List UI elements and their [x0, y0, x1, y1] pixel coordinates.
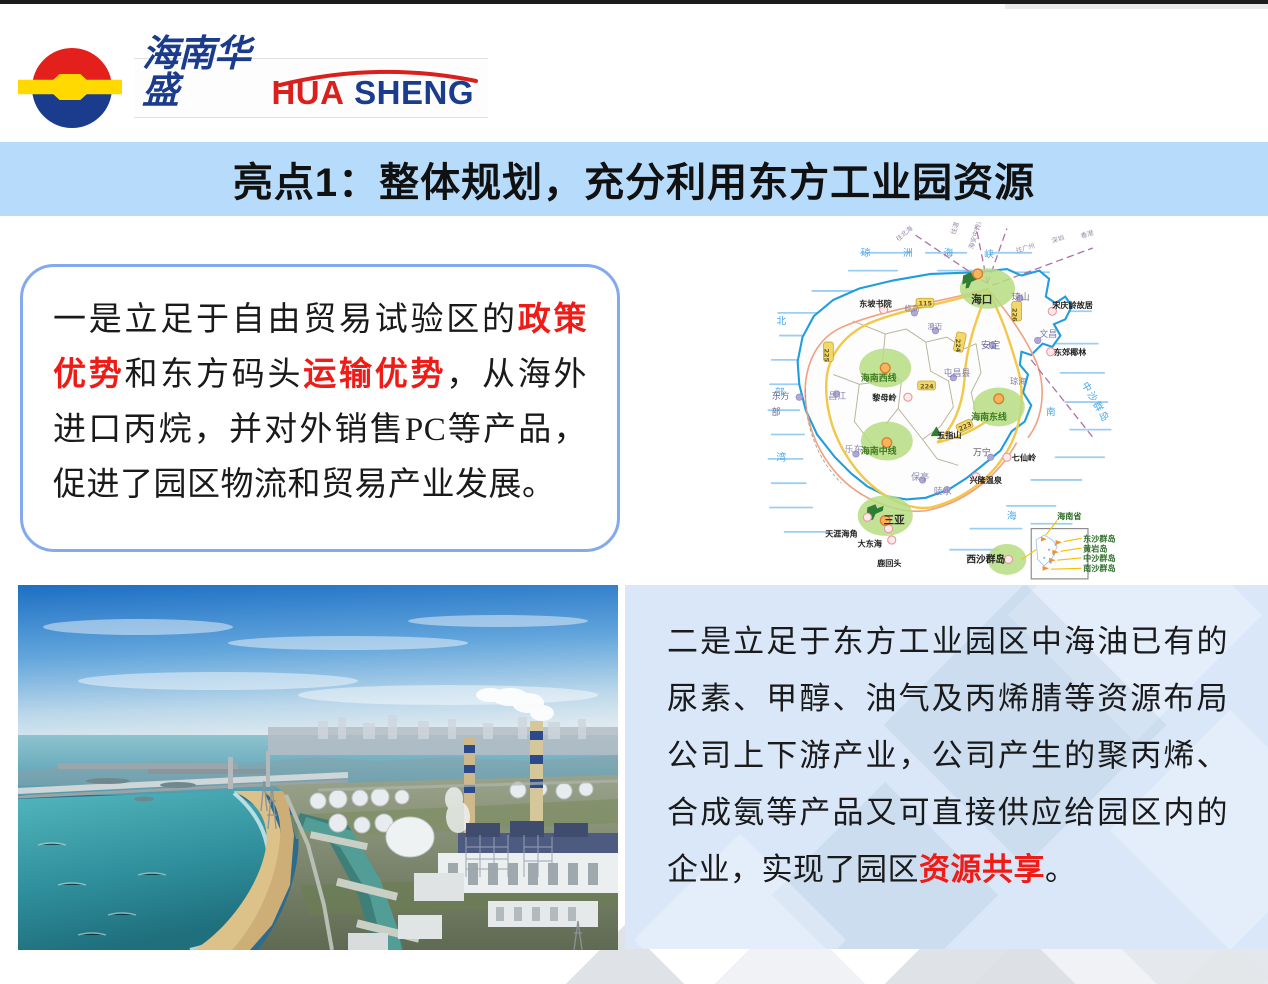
p2-seg2: 。 [1045, 852, 1077, 887]
route-label-hongkong: 香港 [1080, 228, 1095, 240]
scenic-dadonghai: 大东海 [858, 538, 882, 548]
slide-root: 海南华盛 HUA SHENG 亮点1：整体规划，充分利用东方工业园资源 一是立足… [0, 0, 1268, 984]
logo-arc-icon [278, 65, 478, 87]
city-haikou: 海口 [971, 293, 992, 306]
sea-label-nan: 南 [1046, 405, 1057, 418]
city-ledong: 乐东 [845, 443, 863, 455]
p2-highlight-1: 资源共享 [919, 852, 1045, 887]
sea-label-wan: 湾 [777, 450, 788, 463]
city-lingshui: 陵水 [934, 486, 952, 498]
top-black-bar [0, 0, 1268, 4]
city-lingao: 临高 [905, 304, 920, 313]
inset-label-huangyan: 黄岩岛 [1083, 543, 1107, 553]
sea-label-hai: 海 [944, 246, 955, 259]
scenic-dongjiao: 东郊椰林 [1054, 347, 1087, 357]
route-label-haian: 海安中转港 [966, 222, 985, 250]
route-hainan-middle: 海南中线 [861, 445, 897, 457]
paragraph-1: 一是立足于自由贸易试验区的政策优势和东方码头运输优势，从海外进口丙烷，并对外销售… [53, 293, 587, 513]
paragraph-2: 二是立足于东方工业园区中海油已有的尿素、甲醇、油气及丙烯腈等资源布局公司上下游产… [667, 613, 1228, 898]
city-dongfang: 东方 [772, 390, 790, 402]
p1-seg2: 和东方码头 [125, 357, 304, 393]
city-dongfang2: 部 [772, 406, 781, 418]
city-wenchang: 文昌 [1039, 328, 1057, 340]
highway-224a: 224 [954, 339, 962, 353]
scenic-wuzhishan: 五指山 [937, 430, 961, 440]
city-qiongshan: 琼山 [1012, 291, 1030, 303]
text-panel-point-2: 二是立足于东方工业园区中海油已有的尿素、甲醇、油气及丙烯腈等资源布局公司上下游产… [625, 585, 1268, 949]
logo-wordmark: 海南华盛 HUA SHENG [134, 58, 488, 118]
sea-label-zhou: 洲 [903, 248, 914, 259]
inset-label-zhongsha: 中沙群岛 [1083, 553, 1115, 563]
p1-highlight-2: 运输优势 [303, 357, 446, 393]
text-box-point-1: 一是立足于自由贸易试验区的政策优势和东方码头运输优势，从海外进口丙烷，并对外销售… [20, 264, 620, 552]
company-logo: 海南华盛 HUA SHENG [28, 42, 488, 134]
scenic-xisha: 西沙群岛 [966, 553, 1005, 566]
route-label-shenzhen: 深圳 [1050, 233, 1065, 245]
industrial-park-photo [18, 585, 618, 950]
highway-226: 226 [1011, 308, 1019, 322]
page-title: 亮点1：整体规划，充分利用东方工业园资源 [233, 150, 1035, 208]
city-wanning: 万宁 [973, 447, 991, 459]
scenic-limuling: 黎母岭 [871, 392, 897, 402]
sea-label-bei: 北 [777, 315, 788, 327]
scenic-songqingling: 宋庆龄故居 [1051, 300, 1093, 310]
city-changjiang: 昌江 [828, 391, 846, 402]
route-hainan-west: 海南西线 [861, 372, 897, 384]
highway-224b: 224 [920, 382, 934, 390]
sea-label-xia: 峡 [984, 248, 995, 261]
city-dingan: 安定 [981, 339, 1001, 352]
city-baoting: 保亭 [911, 471, 929, 483]
title-banner: 亮点1：整体规划，充分利用东方工业园资源 [0, 142, 1268, 216]
inset-label-dongsha: 东沙群岛 [1083, 534, 1115, 544]
sea-label-qiong: 琼 [861, 246, 872, 259]
p1-seg1: 一是立足于自由贸易试验区的 [53, 302, 518, 338]
scenic-xinglong: 兴隆温泉 [970, 475, 1003, 485]
logo-mark-icon [28, 44, 116, 132]
scenic-dongpo: 东坡书院 [859, 298, 892, 308]
scenic-tianya: 天涯海角 [825, 529, 857, 539]
sea-label-hai2: 海 [1007, 509, 1018, 522]
city-tunchang: 屯昌县 [944, 367, 971, 379]
city-qionghai: 琼海 [1010, 376, 1026, 386]
p2-seg1: 二是立足于东方工业园区中海油已有的尿素、甲醇、油气及丙烯腈等资源布局公司上下游产… [667, 624, 1228, 887]
highway-115: 115 [918, 300, 932, 308]
logo-cn-text: 海南华盛 [142, 35, 269, 109]
highway-225: 225 [822, 349, 830, 363]
city-sanya: 三亚 [884, 515, 906, 527]
city-chengmai: 澄迈 [927, 322, 942, 331]
scenic-qixianling: 七仙岭 [1012, 452, 1037, 462]
route-hainan-east: 海南东线 [971, 411, 1007, 423]
inset-label-hainan: 海南省 [1057, 511, 1081, 521]
inset-label-nansha: 南沙群岛 [1083, 563, 1115, 573]
route-label-beihai: 往北海 [894, 223, 915, 243]
scenic-luhuitou: 鹿回头 [877, 558, 901, 568]
hainan-tourism-map: .sea{stroke:#9ccdf2;stroke-width:2.2;str… [722, 222, 1162, 587]
route-label-zhanjiang: 往湛江 [948, 222, 963, 236]
